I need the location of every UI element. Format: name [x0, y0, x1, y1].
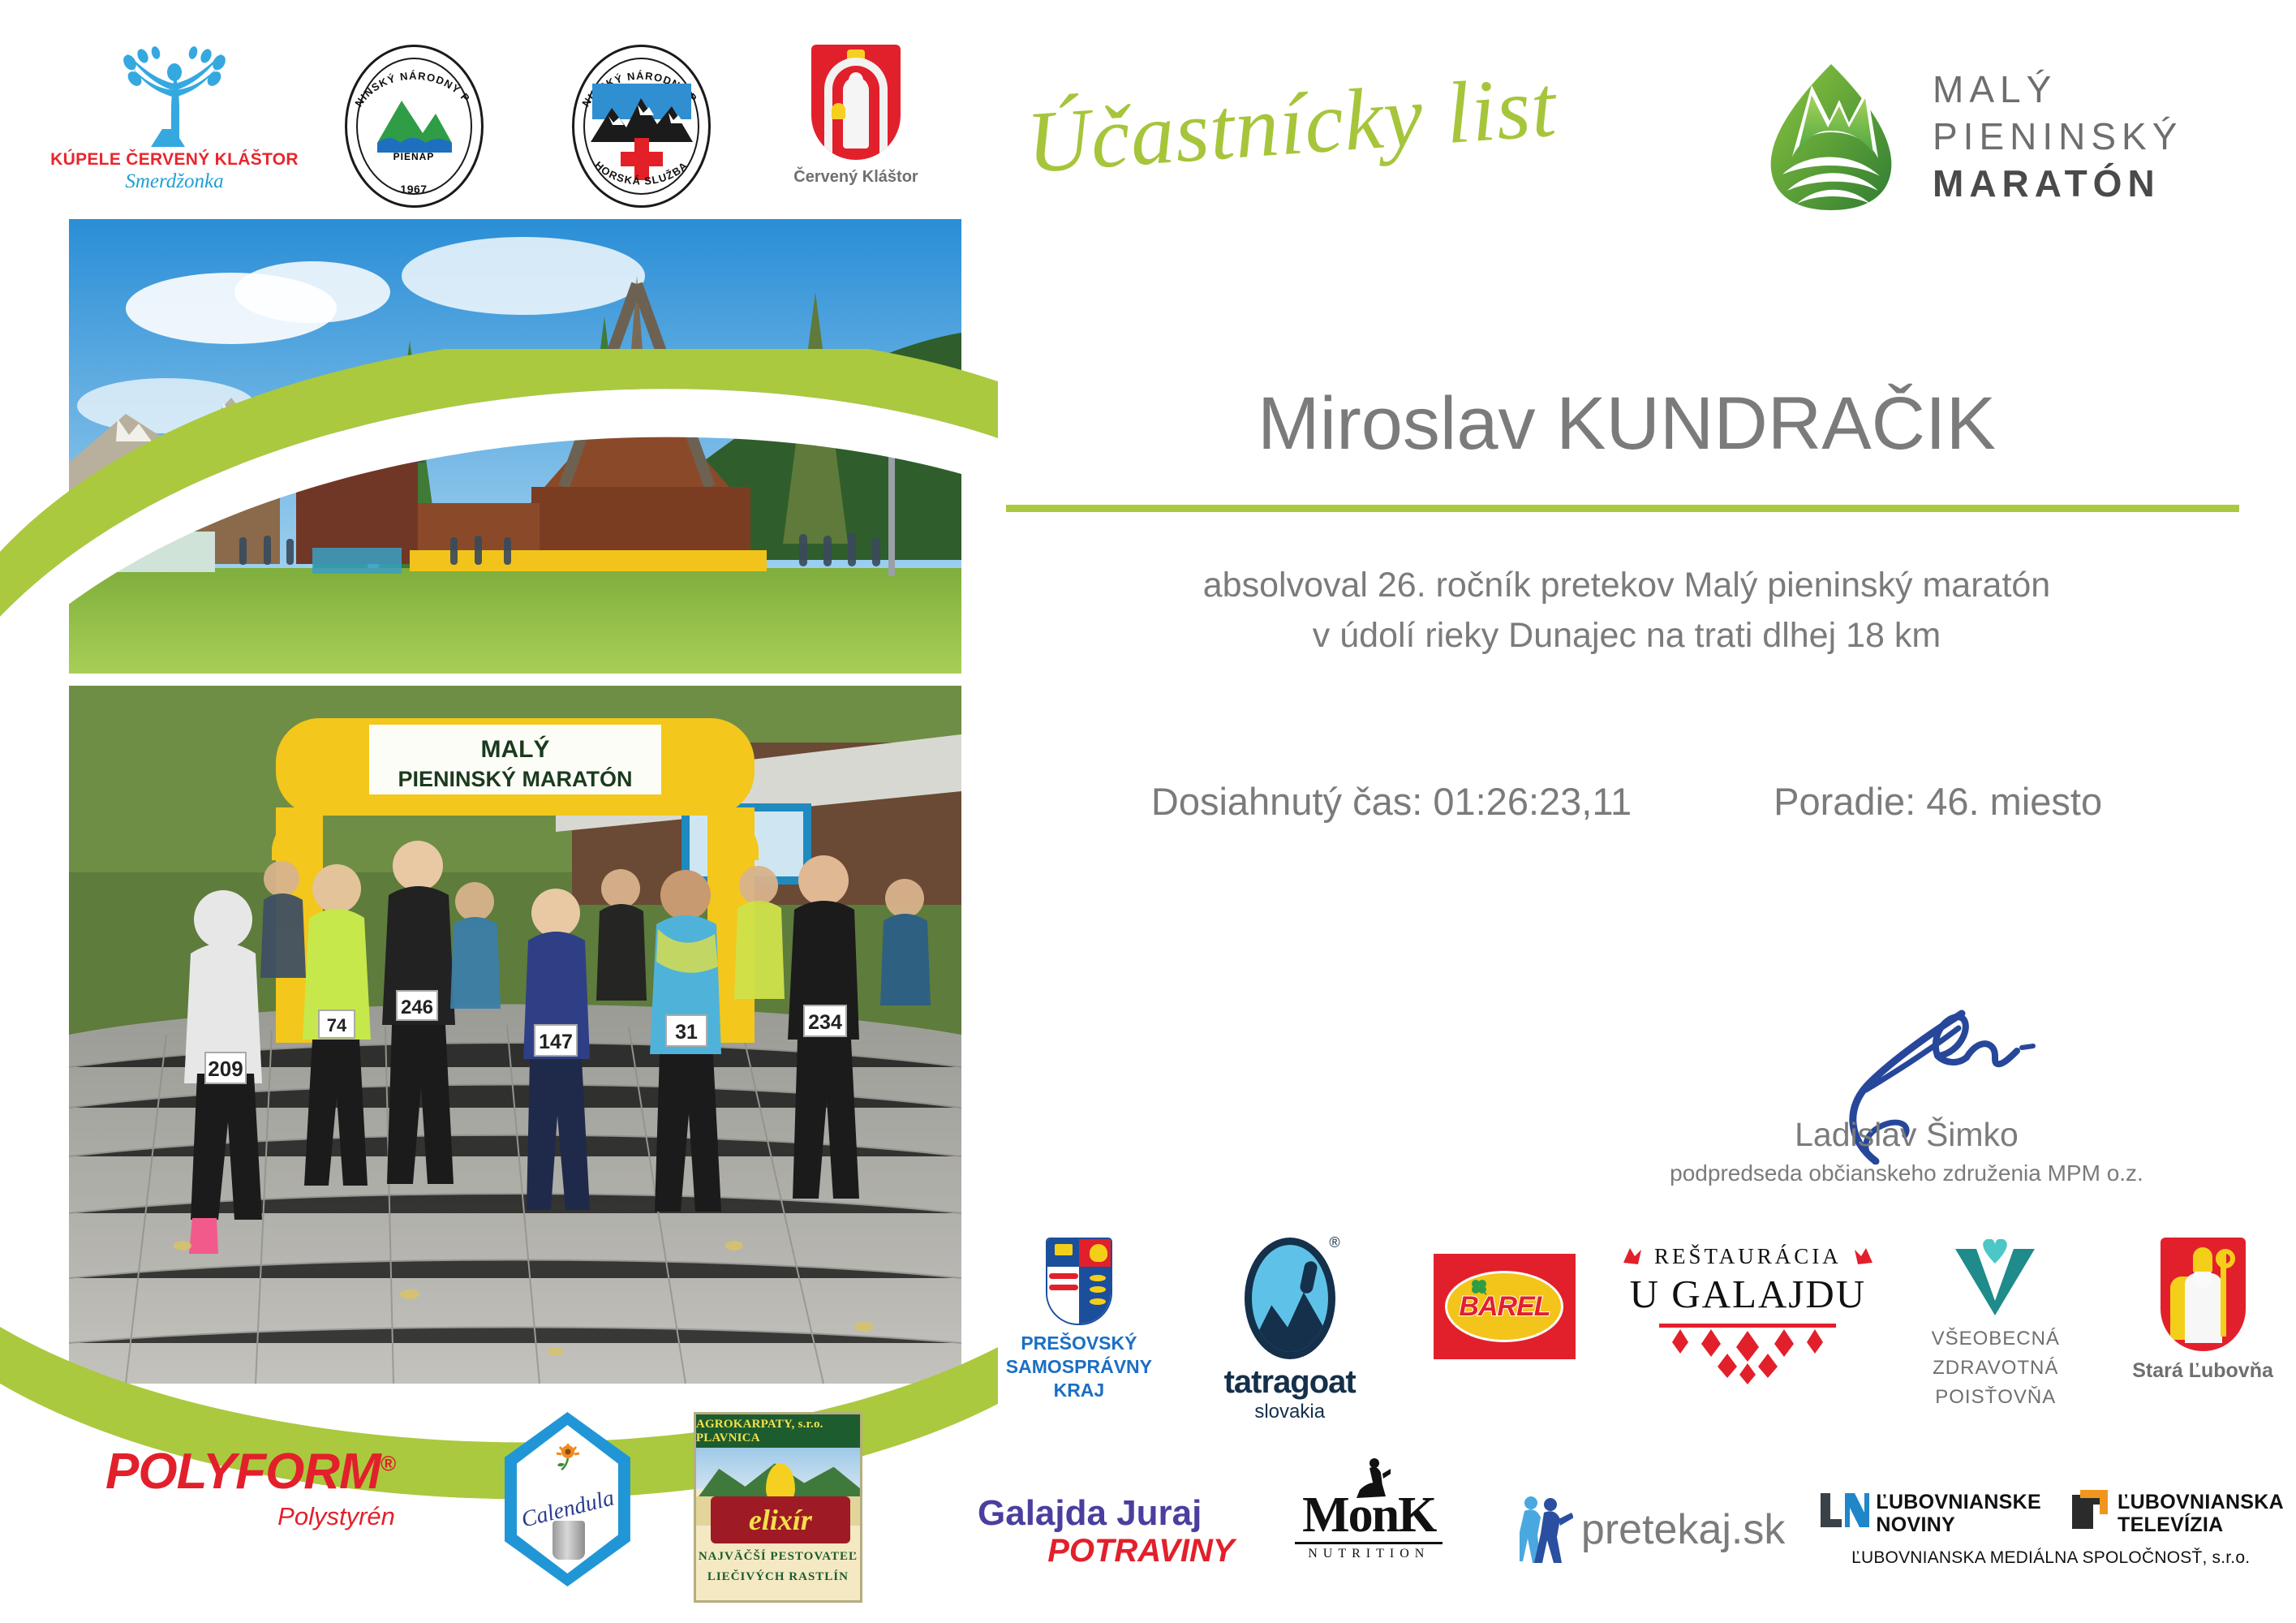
- sponsor-sublabel-1: NAJVÄČŠÍ PESTOVATEĽ: [696, 1550, 860, 1564]
- signer-role: podpredseda občianskeho združenia MPM o.…: [1647, 1160, 2166, 1186]
- sponsor-polyform: POLYFORM® Polystyrén: [105, 1443, 395, 1531]
- sponsor-label: POLYFORM®: [105, 1443, 395, 1500]
- media-label-2: ĽUBOVNIANSKA TELEVÍZIA: [2118, 1491, 2284, 1536]
- sponsor-pretekaj-sk: pretekaj.sk: [1520, 1495, 1785, 1565]
- sponsor-label: PREŠOVSKÝ SAMOSPRÁVNY KRAJ: [1006, 1332, 1152, 1401]
- ln-monogram-icon: [1817, 1490, 1869, 1537]
- lubovnianska-televizia-logo: ĽUBOVNIANSKA TELEVÍZIA: [2066, 1490, 2284, 1537]
- photo-start: MALÝ PIENINSKÝ MARATÓN 209 74: [69, 686, 961, 1384]
- monk-body: [843, 77, 869, 149]
- barel-oval: BAREL: [1445, 1271, 1563, 1342]
- calendula-hexagon-icon: Calendula: [505, 1412, 630, 1586]
- sponsor-tatragoat: ® tatragoat slovakia: [1189, 1238, 1391, 1423]
- divider-rule: [1006, 505, 2239, 512]
- svg-text:PIENINSKÝ MARATÓN: PIENINSKÝ MARATÓN: [398, 766, 632, 791]
- rank-label: Poradie:: [1774, 780, 1915, 823]
- folk-ornament-bottom-icon: [1662, 1328, 1833, 1384]
- mortar-and-pestle-icon: [553, 1521, 585, 1560]
- lt-monogram-icon: [2066, 1490, 2111, 1537]
- sponsor-label: pretekaj.sk: [1581, 1505, 1785, 1554]
- registered-mark: ®: [1329, 1234, 1339, 1251]
- calendula-flower-icon: [554, 1443, 582, 1470]
- svg-text:147: 147: [539, 1031, 573, 1053]
- signature-block: Ladislav Šimko podpredseda občianskeho z…: [1647, 1002, 2166, 1186]
- logo-line-1: MALÝ: [1933, 71, 2182, 108]
- sponsor-sublabel-2: LIEČIVÝCH RASTLÍN: [696, 1570, 860, 1584]
- sponsor-sublabel: POTRAVINY: [978, 1534, 1235, 1568]
- media-company-footer: ĽUBOVNIANSKA MEDIÁLNA SPOLOČNOSŤ, s.r.o.: [1817, 1548, 2284, 1568]
- calendula-inner: Calendula: [517, 1425, 618, 1573]
- stara-lubovna-bishop-crest-icon: [2161, 1238, 2246, 1351]
- sponsor-label: Stará Ľubovňa: [2132, 1359, 2273, 1383]
- registered-mark: ®: [381, 1451, 395, 1475]
- finish-time-label: Dosiahnutý čas:: [1151, 780, 1422, 823]
- event-logo-wordmark: MALÝ PIENINSKÝ MARATÓN: [1933, 71, 2182, 202]
- svg-text:246: 246: [401, 997, 433, 1018]
- barel-clover-icon: BAREL: [1434, 1254, 1576, 1359]
- sponsor-presovsky-kraj: PREŠOVSKÝ SAMOSPRÁVNY KRAJ: [986, 1238, 1172, 1401]
- sponsor-galajda-juraj: Galajda Juraj POTRAVINY: [978, 1495, 1235, 1568]
- monk-nutrition-runner-icon: [1355, 1457, 1391, 1503]
- sponsor-u-galajdu: REŠTAURÁCIA U GALAJDU: [1626, 1244, 1869, 1384]
- sponsor-agrokarpaty-elixir: AGROKARPATY, s.r.o. PLAVNICA elixír NAJV…: [694, 1412, 862, 1603]
- media-label-1: ĽUBOVNIANSKE NOVINY: [1876, 1491, 2041, 1536]
- media-logos-row: ĽUBOVNIANSKE NOVINY ĽUBOVNIANSKA TELEVÍZ…: [1817, 1490, 2284, 1537]
- event-logo: MALÝ PIENINSKÝ MARATÓN: [1765, 61, 2182, 211]
- svg-text:209: 209: [208, 1057, 243, 1081]
- sponsor-sublabel: NUTRITION: [1259, 1547, 1479, 1561]
- sponsor-sublabel: REŠTAURÁCIA: [1654, 1244, 1842, 1269]
- sponsor-sublabel: slovakia: [1254, 1401, 1325, 1423]
- rank: Poradie: 46. miesto: [1774, 779, 2102, 824]
- sponsor-barel: BAREL: [1408, 1254, 1602, 1359]
- finish-time: Dosiahnutý čas: 01:26:23,11: [1151, 779, 1632, 824]
- sponsor-label: tatragoat: [1224, 1364, 1356, 1401]
- vzp-chevron-heart-icon: [1949, 1239, 2042, 1316]
- description-line-1: absolvoval 26. ročník pretekov Malý pien…: [1006, 560, 2247, 610]
- mountain-leaf-icon: [1765, 61, 1898, 211]
- logo-line-2: PIENINSKÝ: [1933, 118, 2182, 155]
- pretekaj-runners-icon: [1520, 1495, 1573, 1565]
- finish-time-value: 01:26:23,11: [1433, 780, 1632, 823]
- result-row: Dosiahnutý čas: 01:26:23,11 Poradie: 46.…: [1006, 779, 2247, 824]
- sponsor-calendula: Calendula: [505, 1412, 630, 1586]
- page-title: Účastnícky list: [1023, 57, 1559, 194]
- sponsor-row-primary: PREŠOVSKÝ SAMOSPRÁVNY KRAJ ® tatragoat s…: [986, 1238, 2284, 1457]
- partner-name: KÚPELE ČERVENÝ KLÁŠTOR: [50, 150, 299, 170]
- partner-logo-kupele-cerveny-klastor: KÚPELE ČERVENÝ KLÁŠTOR Smerdžonka: [73, 45, 276, 193]
- partner-logo-cerveny-klastor: Červený Kláštor: [779, 45, 933, 187]
- photo-collage: MALÝ PIENINSKÝ MARATÓN 209 74: [0, 174, 990, 1375]
- sponsor-label: VŠEOBECNÁ ZDRAVOTNÁ POISŤOVŇA: [1932, 1324, 2060, 1412]
- certificate-page: KÚPELE ČERVENÝ KLÁŠTOR Smerdžonka PIENIN…: [0, 0, 2296, 1623]
- sponsor-label: elixír: [749, 1503, 812, 1537]
- certificate-description: absolvoval 26. ročník pretekov Malý pien…: [1006, 560, 2247, 661]
- sponsor-label: Galajda Juraj: [978, 1495, 1235, 1532]
- pienap-label: PIENAP: [347, 151, 481, 162]
- logo-line-3: MARATÓN: [1933, 165, 2182, 202]
- water-spring-figure-icon: [105, 45, 243, 149]
- folk-ornament-right-icon: [1851, 1245, 1876, 1269]
- sponsor-row-bottom-left: POLYFORM® Polystyrén: [105, 1412, 974, 1615]
- sponsor-lubovnianska-medialna: ĽUBOVNIANSKE NOVINY ĽUBOVNIANSKA TELEVÍZ…: [1817, 1490, 2284, 1568]
- sponsor-stara-lubovna: Stará Ľubovňa: [2122, 1238, 2284, 1383]
- bell-icon: [832, 103, 845, 119]
- svg-text:31: 31: [675, 1021, 698, 1044]
- lubovnianske-noviny-logo: ĽUBOVNIANSKE NOVINY: [1817, 1490, 2041, 1537]
- photo-venue: [69, 219, 961, 674]
- presov-region-crest-icon: [1046, 1238, 1112, 1325]
- sponsor-vzp: VŠEOBECNÁ ZDRAVOTNÁ POISŤOVŇA: [1892, 1239, 2099, 1412]
- folk-ornament-left-icon: [1620, 1245, 1645, 1269]
- sponsor-sublabel: Polystyrén: [105, 1502, 395, 1531]
- sponsor-monk-nutrition: MonK NUTRITION: [1259, 1492, 1479, 1561]
- sponsor-label: U GALAJDU: [1630, 1271, 1867, 1317]
- agrokarpaty-banner: AGROKARPATY, s.r.o. PLAVNICA: [696, 1414, 860, 1448]
- clover-icon: [1470, 1278, 1488, 1296]
- coat-of-arms-icon: [811, 45, 901, 160]
- svg-text:234: 234: [808, 1011, 842, 1034]
- participant-name: Miroslav KUNDRAČIK: [1006, 381, 2247, 467]
- svg-text:MALÝ: MALÝ: [481, 735, 550, 763]
- description-line-2: v údolí rieky Dunajec na trati dlhej 18 …: [1006, 610, 2247, 661]
- signer-name: Ladislav Šimko: [1647, 1116, 2166, 1154]
- sponsor-row-secondary: Galajda Juraj POTRAVINY MonK NUTRITION: [978, 1477, 2284, 1599]
- tatragoat-chamois-icon: [1245, 1238, 1335, 1359]
- rank-value: 46. miesto: [1926, 780, 2102, 823]
- elixir-ribbon: elixír: [711, 1496, 850, 1543]
- pienap-mountain-mark: [374, 94, 455, 154]
- svg-text:74: 74: [327, 1015, 347, 1035]
